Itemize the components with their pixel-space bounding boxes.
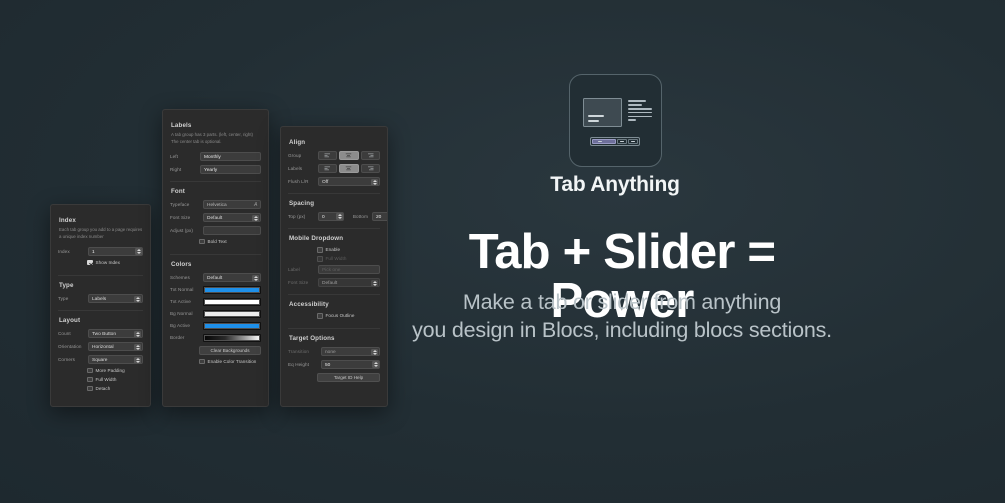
chevron-updown-icon[interactable] (134, 344, 141, 351)
section-title: Target Options (289, 335, 380, 342)
swatch-row-txt-normal: Txt Normal (170, 286, 261, 294)
section-title: Index (59, 217, 143, 224)
transition-select[interactable]: none (321, 347, 380, 356)
field-label: Group (288, 153, 314, 158)
chevron-updown-icon[interactable] (371, 349, 378, 356)
align-center-button[interactable] (339, 164, 358, 173)
section-type: Type Type Labels (58, 275, 143, 310)
app-icon-screen (583, 98, 622, 127)
checkbox-more-padding[interactable]: More Padding (58, 368, 143, 374)
flush-select[interactable]: Off (318, 177, 380, 186)
checkbox-label: Enable (326, 247, 341, 252)
type-select[interactable]: Labels (88, 294, 143, 303)
section-title: Labels (171, 122, 261, 129)
swatch-label: Border (170, 335, 199, 340)
inspector-panel-right: Align Group (280, 126, 388, 407)
field-label: Count (58, 331, 84, 336)
field-label: Orientation (58, 344, 84, 349)
field-label: Font Size (288, 280, 314, 285)
section-accessibility: Accessibility Focus Outline (288, 294, 380, 328)
chevron-updown-icon[interactable] (252, 215, 259, 222)
section-spacing: Spacing Top (px) 0 Bottom 20 (288, 193, 380, 228)
section-title: Spacing (289, 200, 380, 207)
left-label-input[interactable]: Monthly (200, 152, 261, 161)
field-label: Right (170, 167, 196, 172)
checkbox-label: Detach (96, 386, 111, 391)
mobile-font-size-select[interactable]: Default (318, 278, 380, 287)
checkbox-icon (317, 256, 323, 262)
align-group-segmented[interactable] (318, 151, 380, 160)
checkbox-icon[interactable] (87, 368, 93, 374)
checkbox-full-width: Full Width (288, 256, 380, 262)
chevron-updown-icon[interactable] (252, 275, 259, 282)
field-row-mobile-font-size: Font Size Default (288, 278, 380, 287)
stepper-arrows-icon[interactable] (372, 361, 379, 368)
swatch-row-bg-normal: Bg Normal (170, 310, 261, 318)
typeface-picker[interactable]: Helvetica A (203, 200, 261, 209)
color-swatch-bg-active[interactable] (203, 322, 261, 330)
chevron-updown-icon[interactable] (134, 296, 141, 303)
section-target-options: Target Options Transition none Eq Height… (288, 328, 380, 392)
section-colors: Colors Schemes Default Txt Normal Txt Ac… (170, 254, 261, 374)
align-right-button[interactable] (361, 164, 380, 173)
typeface-value: Helvetica (207, 203, 227, 208)
checkbox-icon[interactable] (199, 239, 205, 245)
screenshot-root: Index Each tab group you add to a page r… (0, 0, 1005, 503)
checkbox-show-index[interactable]: Show Index (58, 260, 143, 266)
field-row-transition: Transition none (288, 347, 380, 356)
section-mobile-dropdown: Mobile Dropdown Enable Full Width Label … (288, 228, 380, 294)
section-labels: Labels A tab group has 3 parts. (left, c… (170, 116, 261, 181)
color-swatch-txt-active[interactable] (203, 298, 261, 306)
field-label: Flush L/R (288, 179, 314, 184)
align-right-button[interactable] (361, 151, 380, 160)
field-label: Labels (288, 166, 314, 171)
app-name: Tab Anything (470, 173, 760, 197)
index-stepper[interactable]: 1 (88, 247, 143, 256)
align-left-button[interactable] (318, 151, 337, 160)
checkbox-icon[interactable] (87, 377, 93, 383)
field-row-count: Count Two Button (58, 329, 143, 338)
checkbox-icon[interactable] (199, 359, 205, 365)
field-row-adjust: Adjust (px) (170, 226, 261, 235)
field-row-right-label: Right Yearly (170, 165, 261, 174)
schemes-select[interactable]: Default (203, 273, 261, 282)
align-left-icon (324, 153, 331, 158)
align-row-labels: Labels (288, 164, 380, 173)
swatch-row-border: Border (170, 334, 261, 342)
font-size-select[interactable]: Default (203, 213, 261, 222)
field-row-schemes: Schemes Default (170, 273, 261, 282)
align-center-button[interactable] (339, 151, 358, 160)
orientation-select-value: Horizontal (92, 345, 114, 350)
swatch-row-txt-active: Txt Active (170, 298, 261, 306)
field-row-type: Type Labels (58, 294, 143, 303)
spacing-bottom-stepper[interactable]: 20 (372, 212, 388, 221)
section-title: Font (171, 188, 261, 195)
section-font: Font Typeface Helvetica A Font Size Defa… (170, 181, 261, 254)
align-right-icon (367, 153, 374, 158)
section-index: Index Each tab group you add to a page r… (58, 211, 143, 275)
checkbox-bold-text[interactable]: Bold Text (170, 239, 261, 245)
section-description: Each tab group you add to a page require… (59, 227, 143, 241)
tab-anything-app-icon (569, 74, 662, 167)
field-label: Left (170, 154, 196, 159)
field-label: Type (58, 296, 84, 301)
checkbox-icon[interactable] (317, 247, 323, 253)
field-label: Label (288, 267, 314, 272)
section-title: Layout (59, 317, 143, 324)
stepper-arrows-icon[interactable] (336, 213, 343, 220)
field-row-corners: Corners Square (58, 355, 143, 364)
chevron-updown-icon[interactable] (371, 280, 378, 287)
swatch-label: Txt Normal (170, 287, 199, 292)
align-center-icon (345, 166, 352, 171)
checkbox-label: More Padding (96, 368, 125, 373)
checkbox-detach[interactable]: Detach (58, 386, 143, 392)
field-row-font-size: Font Size Default (170, 213, 261, 222)
field-label: Font Size (170, 215, 199, 220)
subline: Make a tab or slider from anything you d… (382, 288, 862, 345)
mobile-font-size-value: Default (322, 281, 337, 286)
field-row-index: Index 1 (58, 247, 143, 256)
checkbox-full-width[interactable]: Full Width (58, 377, 143, 383)
app-icon-tab (617, 139, 627, 144)
section-layout: Layout Count Two Button Orientation Hori… (58, 310, 143, 401)
field-row-typeface: Typeface Helvetica A (170, 200, 261, 209)
checkbox-label: Full Width (326, 256, 347, 261)
align-labels-segmented[interactable] (318, 164, 380, 173)
section-title: Align (289, 139, 380, 146)
orientation-select[interactable]: Horizontal (88, 342, 143, 351)
chevron-updown-icon[interactable] (134, 331, 141, 338)
section-description: A tab group has 3 parts. (left, center, … (171, 132, 261, 146)
align-left-button[interactable] (318, 164, 337, 173)
field-label: Transition (288, 349, 317, 354)
subline-line-2: you design in Blocs, including blocs sec… (412, 318, 832, 342)
checkbox-focus-outline[interactable]: Focus Outline (288, 313, 380, 319)
spacing-bottom-input[interactable]: 20 (372, 212, 388, 221)
font-a-icon[interactable]: A (254, 201, 257, 209)
field-label: Bottom (348, 214, 368, 219)
align-center-icon (345, 153, 352, 158)
field-label: Eq Height (288, 362, 317, 367)
swatch-label: Bg Normal (170, 311, 199, 316)
swatch-label: Bg Active (170, 323, 199, 328)
target-id-help-button[interactable]: Target ID Help (317, 373, 380, 382)
schemes-value: Default (207, 276, 222, 281)
checkbox-label: Bold Text (208, 239, 227, 244)
flush-value: Off (322, 180, 328, 185)
mobile-label-input[interactable]: Pick one (318, 265, 380, 274)
eq-height-stepper[interactable]: 50 (321, 360, 380, 369)
field-label: Schemes (170, 275, 199, 280)
checkbox-icon[interactable] (87, 260, 93, 266)
count-select-value: Two Button (92, 332, 116, 337)
checkbox-label: Focus Outline (326, 313, 355, 318)
inspector-panel-left: Index Each tab group you add to a page r… (50, 204, 151, 407)
section-title: Colors (171, 261, 261, 268)
transition-value: none (325, 350, 336, 355)
app-icon-tab-selected (592, 139, 616, 144)
field-row-flush: Flush L/R Off (288, 177, 380, 186)
chevron-updown-icon[interactable] (134, 357, 141, 364)
clear-backgrounds-button[interactable]: Clear Backgrounds (199, 346, 261, 355)
subline-line-1: Make a tab or slider from anything (463, 290, 781, 314)
section-title: Accessibility (289, 301, 380, 308)
color-swatch-border[interactable] (203, 334, 261, 342)
right-label-input[interactable]: Yearly (200, 165, 261, 174)
type-select-value: Labels (92, 297, 106, 302)
checkbox-enable[interactable]: Enable (288, 247, 380, 253)
align-right-icon (367, 166, 374, 171)
section-title: Type (59, 282, 143, 289)
field-row-eq-height: Eq Height 50 (288, 360, 380, 369)
corners-select-value: Square (92, 358, 107, 363)
inspector-panel-middle: Labels A tab group has 3 parts. (left, c… (162, 109, 269, 407)
checkbox-label: Full Width (96, 377, 117, 382)
checkbox-icon[interactable] (87, 386, 93, 392)
field-label: Top (px) (288, 214, 314, 219)
checkbox-icon[interactable] (317, 313, 323, 319)
app-icon-text-lines (628, 100, 652, 123)
field-label: Index (58, 249, 84, 254)
field-label: Corners (58, 357, 84, 362)
section-title: Mobile Dropdown (289, 235, 380, 242)
swatch-label: Txt Active (170, 299, 199, 304)
checkbox-label: Enable Color Transition (208, 359, 257, 364)
field-row-left-label: Left Monthly (170, 152, 261, 161)
app-icon-tab (628, 139, 638, 144)
color-swatch-bg-normal[interactable] (203, 310, 261, 318)
corners-select[interactable]: Square (88, 355, 143, 364)
spacing-row: Top (px) 0 Bottom 20 (288, 212, 380, 221)
field-row-orientation: Orientation Horizontal (58, 342, 143, 351)
field-label: Adjust (px) (170, 228, 199, 233)
align-left-icon (324, 166, 331, 171)
count-select[interactable]: Two Button (88, 329, 143, 338)
field-label: Typeface (170, 202, 199, 207)
swatch-row-bg-active: Bg Active (170, 322, 261, 330)
field-row-mobile-label: Label Pick one (288, 265, 380, 274)
adjust-input[interactable] (203, 226, 261, 235)
checkbox-label: Show Index (96, 260, 121, 265)
color-swatch-txt-normal[interactable] (203, 286, 261, 294)
chevron-updown-icon[interactable] (371, 179, 378, 186)
font-size-value: Default (207, 216, 222, 221)
spacing-top-stepper[interactable]: 0 (318, 212, 344, 221)
checkbox-enable-color-transition[interactable]: Enable Color Transition (170, 359, 261, 365)
section-align: Align Group (288, 133, 380, 193)
app-icon-tab-bar (590, 137, 640, 146)
align-row-group: Group (288, 151, 380, 160)
stepper-arrows-icon[interactable] (135, 248, 142, 255)
